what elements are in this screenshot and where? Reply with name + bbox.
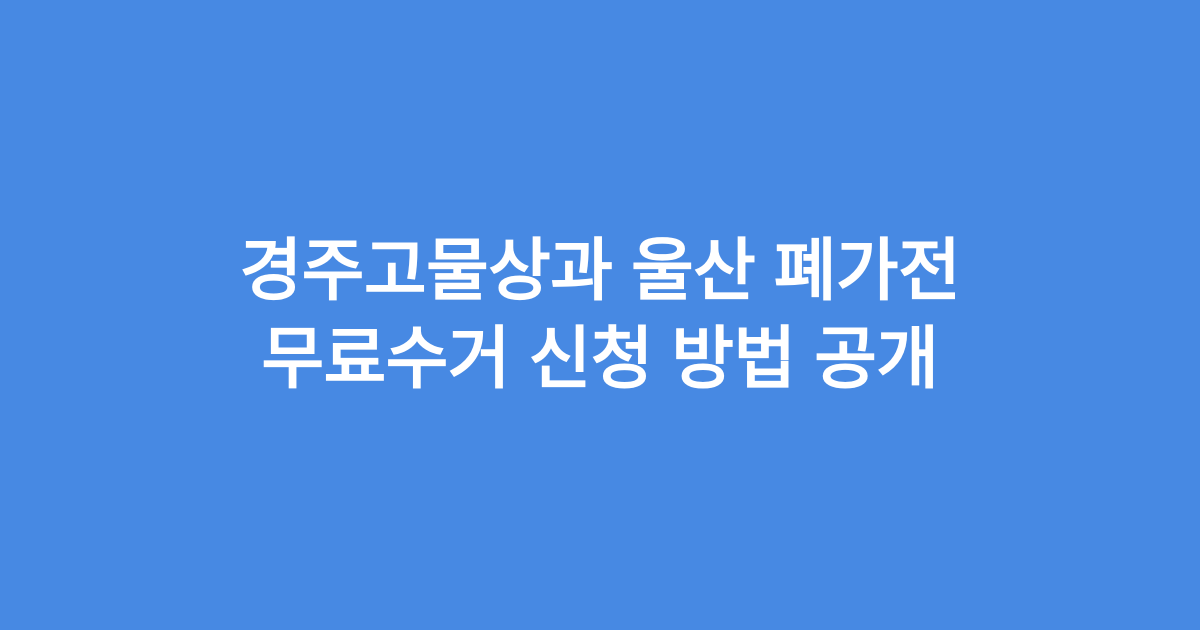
page-title: 경주고물상과 울산 폐가전 무료수거 신청 방법 공개 — [112, 227, 1088, 403]
title-block: 경주고물상과 울산 폐가전 무료수거 신청 방법 공개 — [100, 227, 1100, 403]
thumbnail-card: 경주고물상과 울산 폐가전 무료수거 신청 방법 공개 — [0, 0, 1200, 630]
